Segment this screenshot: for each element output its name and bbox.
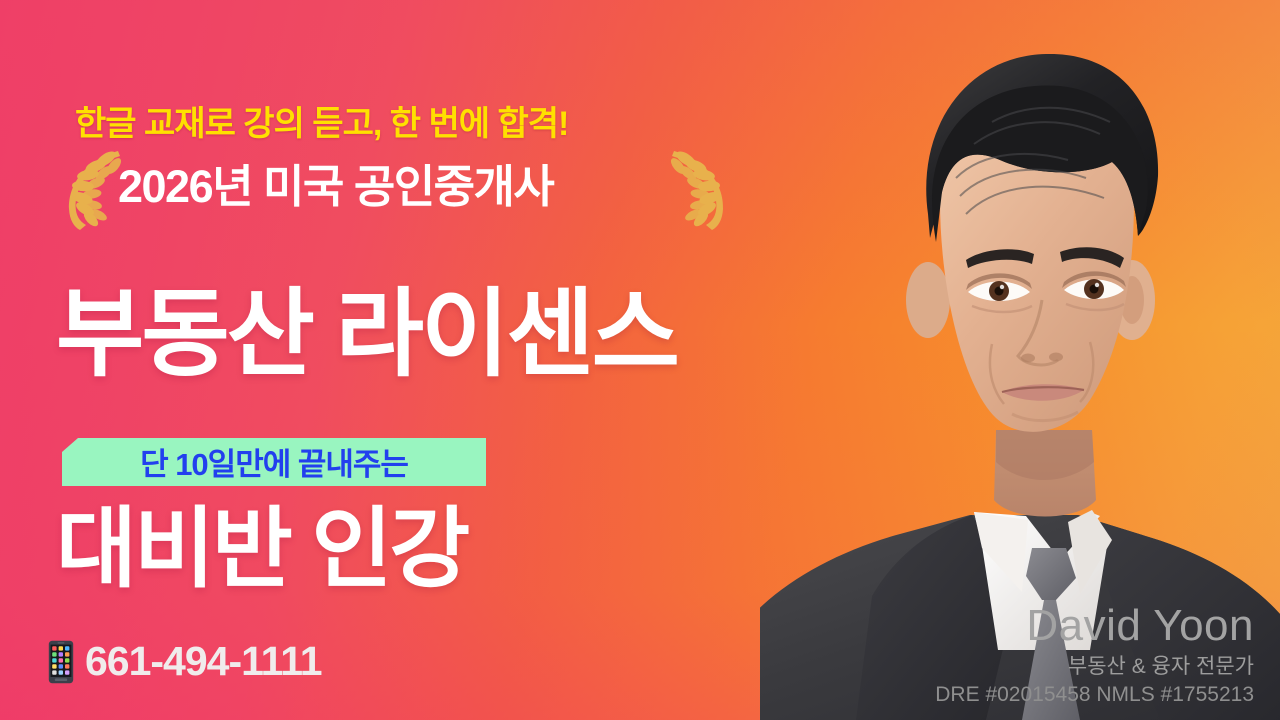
agent-portrait	[760, 0, 1280, 720]
copy-column: 한글 교재로 강의 듣고, 한 번에 합격!	[0, 0, 790, 720]
secondary-headline: 대비반 인강	[56, 505, 467, 593]
year-row: 2026년 미국 공인중개사	[60, 146, 720, 230]
highlight-band: 단 10일만에 끝내주는	[62, 438, 486, 486]
promo-banner: 한글 교재로 강의 듣고, 한 번에 합격!	[0, 0, 1280, 720]
phone-row[interactable]: 661-494-1111	[48, 638, 322, 685]
phone-number[interactable]: 661-494-1111	[85, 638, 322, 685]
mobile-phone-icon	[48, 640, 74, 684]
kicker-text: 한글 교재로 강의 듣고, 한 번에 합격!	[75, 96, 568, 145]
main-headline: 부동산 라이센스	[56, 287, 677, 383]
year-text: 2026년 미국 공인중개사	[118, 150, 553, 215]
highlight-band-text: 단 10일만에 끝내주는	[140, 439, 408, 484]
laurel-branch-icon	[660, 146, 732, 230]
